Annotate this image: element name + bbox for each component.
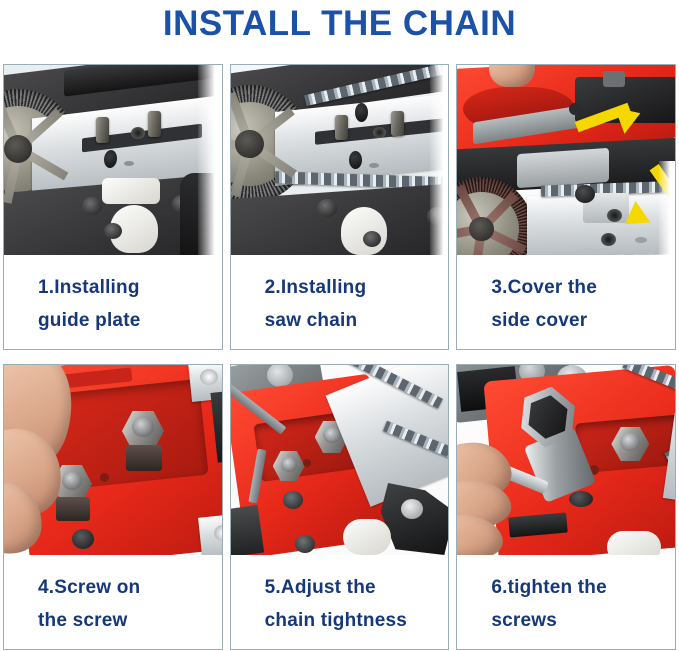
step-caption-3: 3.Cover the side cover (457, 255, 675, 349)
step-caption-6: 6.tighten the screws (457, 555, 675, 649)
step-card-5: 5.Adjust the chain tightness (230, 364, 450, 650)
caption-line: screws (491, 604, 675, 637)
step-photo-4 (4, 365, 222, 555)
caption-line: 3.Cover the (491, 271, 675, 304)
step-caption-5: 5.Adjust the chain tightness (231, 555, 449, 649)
caption-line: chain tightness (265, 604, 449, 637)
caption-line: 2.Installing (265, 271, 449, 304)
caption-line: 4.Screw on (38, 571, 222, 604)
step-card-4: 4.Screw on the screw (3, 364, 223, 650)
step-photo-5 (231, 365, 449, 555)
step-photo-6 (457, 365, 675, 555)
step-photo-3 (457, 65, 675, 255)
step-photo-1 (4, 65, 222, 255)
page-title: INSTALL THE CHAIN (0, 2, 679, 46)
caption-line: guide plate (38, 304, 222, 337)
caption-line: 6.tighten the (491, 571, 675, 604)
step-card-6: 6.tighten the screws (456, 364, 676, 650)
step-card-1: 1.Installing guide plate (3, 64, 223, 350)
step-caption-1: 1.Installing guide plate (4, 255, 222, 349)
instruction-sheet: INSTALL THE CHAIN (0, 0, 679, 651)
caption-line: 5.Adjust the (265, 571, 449, 604)
steps-grid: 1.Installing guide plate (3, 64, 676, 650)
step-photo-2 (231, 65, 449, 255)
caption-line: saw chain (265, 304, 449, 337)
step-card-2: 2.Installing saw chain (230, 64, 450, 350)
caption-line: 1.Installing (38, 271, 222, 304)
caption-line: side cover (491, 304, 675, 337)
step-card-3: 3.Cover the side cover (456, 64, 676, 350)
step-caption-2: 2.Installing saw chain (231, 255, 449, 349)
caption-line: the screw (38, 604, 222, 637)
step-caption-4: 4.Screw on the screw (4, 555, 222, 649)
